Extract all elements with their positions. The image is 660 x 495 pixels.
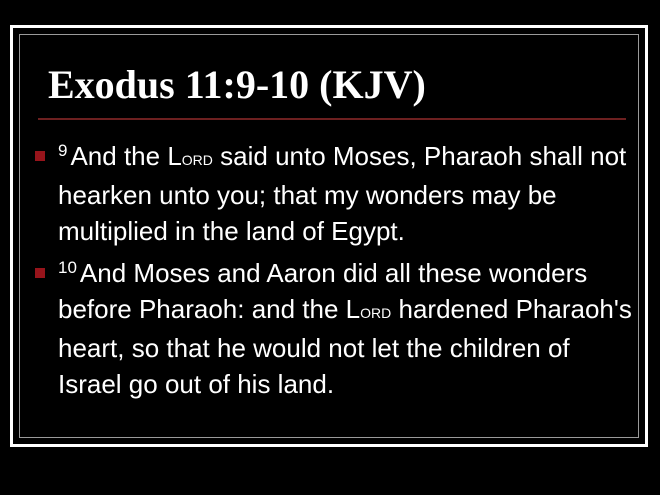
- divine-name-smallcaps: ord: [182, 148, 213, 170]
- list-item: 9And the Lord said unto Moses, Pharaoh s…: [32, 138, 632, 249]
- verse-number: 9: [58, 141, 70, 160]
- divine-name: Lord: [167, 141, 213, 171]
- divine-name-smallcaps: ord: [360, 301, 391, 323]
- slide-title: Exodus 11:9-10 (KJV): [48, 62, 628, 108]
- divine-name-capital: L: [346, 294, 360, 324]
- red-square-bullet-icon: [35, 151, 45, 161]
- red-square-bullet-icon: [35, 268, 45, 278]
- bullet-text: 10And Moses and Aaron did all these wond…: [58, 255, 632, 402]
- bullet-text: 9And the Lord said unto Moses, Pharaoh s…: [58, 138, 632, 249]
- bullet-text-before-divine-name: And the: [70, 141, 167, 171]
- divine-name: Lord: [346, 294, 392, 324]
- title-divider-rule: [38, 118, 626, 120]
- verse-number: 10: [58, 258, 80, 277]
- list-item: 10And Moses and Aaron did all these wond…: [32, 255, 632, 402]
- slide-body: 9And the Lord said unto Moses, Pharaoh s…: [32, 138, 632, 408]
- divine-name-capital: L: [167, 141, 181, 171]
- presentation-slide: Exodus 11:9-10 (KJV) 9And the Lord said …: [0, 0, 660, 495]
